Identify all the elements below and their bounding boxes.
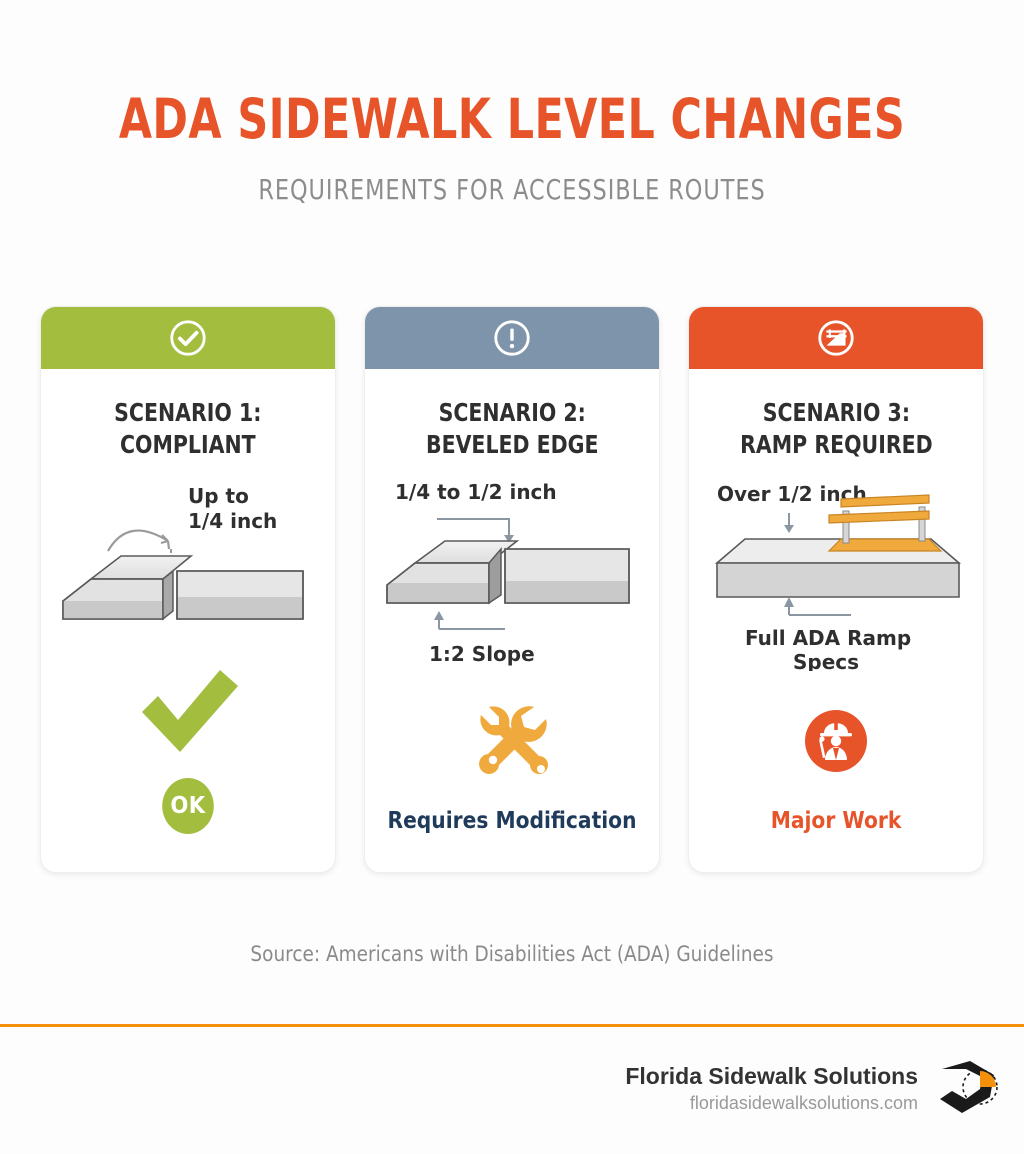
page-header: ADA SIDEWALK LEVEL CHANGES REQUIREMENTS … <box>0 0 1024 206</box>
svg-text:Specs: Specs <box>793 650 859 671</box>
card-3-title: SCENARIO 3: RAMP REQUIRED <box>740 397 933 461</box>
card-1-title: SCENARIO 1: COMPLIANT <box>114 397 261 461</box>
sidewalk-solutions-logo <box>932 1055 1006 1121</box>
card-2-title: SCENARIO 2: BEVELED EDGE <box>426 397 599 461</box>
footer-brand: Florida Sidewalk Solutions floridasidewa… <box>625 1055 1006 1121</box>
scenario-cards: SCENARIO 1: COMPLIANT Up to 1/4 inch <box>40 306 984 873</box>
card-1-verdict: OK <box>41 643 335 834</box>
card-3-verdict: Major Work <box>689 673 983 834</box>
infographic-page: ADA SIDEWALK LEVEL CHANGES REQUIREMENTS … <box>0 0 1024 1154</box>
card-2-verdict-art <box>365 673 659 808</box>
page-title: ADA SIDEWALK LEVEL CHANGES <box>113 92 912 147</box>
card-2-verdict-label: Requires Modification <box>383 808 642 834</box>
check-circle-icon <box>167 317 209 359</box>
scenario-card-3: SCENARIO 3: RAMP REQUIRED Over 1/2 inch <box>688 306 984 873</box>
card-2-diagram: 1/4 to 1/2 inch <box>377 471 647 661</box>
green-checkmark-icon <box>128 656 248 766</box>
slab-with-ramp-diagram: Over 1/2 inch <box>701 471 971 671</box>
scenario-card-1: SCENARIO 1: COMPLIANT Up to 1/4 inch <box>40 306 336 873</box>
ramp-circle-icon <box>815 317 857 359</box>
svg-text:1:2 Slope: 1:2 Slope <box>429 642 535 666</box>
ok-badge: OK <box>162 778 214 834</box>
construction-worker-icon <box>813 718 859 764</box>
svg-text:1/4 to 1/2 inch: 1/4 to 1/2 inch <box>395 480 557 504</box>
page-subtitle: REQUIREMENTS FOR ACCESSIBLE ROUTES <box>102 173 921 206</box>
footer-divider <box>0 1024 1024 1027</box>
card-2-verdict: Requires Modification <box>365 673 659 834</box>
svg-text:Up to: Up to <box>188 484 249 508</box>
card-1-header-band <box>41 307 335 369</box>
source-note: Source: Americans with Disabilities Act … <box>61 942 962 966</box>
brand-name: Florida Sidewalk Solutions <box>625 1063 918 1090</box>
card-3-verdict-label: Major Work <box>707 808 966 834</box>
exclamation-circle-icon <box>491 317 533 359</box>
two-slabs-beveled-edge-diagram: 1/4 to 1/2 inch <box>377 471 647 671</box>
card-3-diagram: Over 1/2 inch <box>701 471 971 661</box>
card-2-header-band <box>365 307 659 369</box>
svg-text:Full ADA Ramp: Full ADA Ramp <box>745 626 911 650</box>
worker-badge <box>805 710 867 772</box>
card-3-header-band <box>689 307 983 369</box>
brand-text-block: Florida Sidewalk Solutions floridasidewa… <box>625 1063 918 1114</box>
card-1-diagram: Up to 1/4 inch <box>53 471 323 661</box>
card-3-verdict-art <box>689 673 983 808</box>
brand-url[interactable]: floridasidewalksolutions.com <box>625 1093 918 1114</box>
two-slabs-small-gap-diagram: Up to 1/4 inch <box>53 471 323 661</box>
svg-text:1/4 inch: 1/4 inch <box>188 509 277 533</box>
crossed-wrenches-icon <box>462 691 562 791</box>
scenario-card-2: SCENARIO 2: BEVELED EDGE 1/4 to 1/2 inch <box>364 306 660 873</box>
card-1-verdict-art <box>41 643 335 778</box>
